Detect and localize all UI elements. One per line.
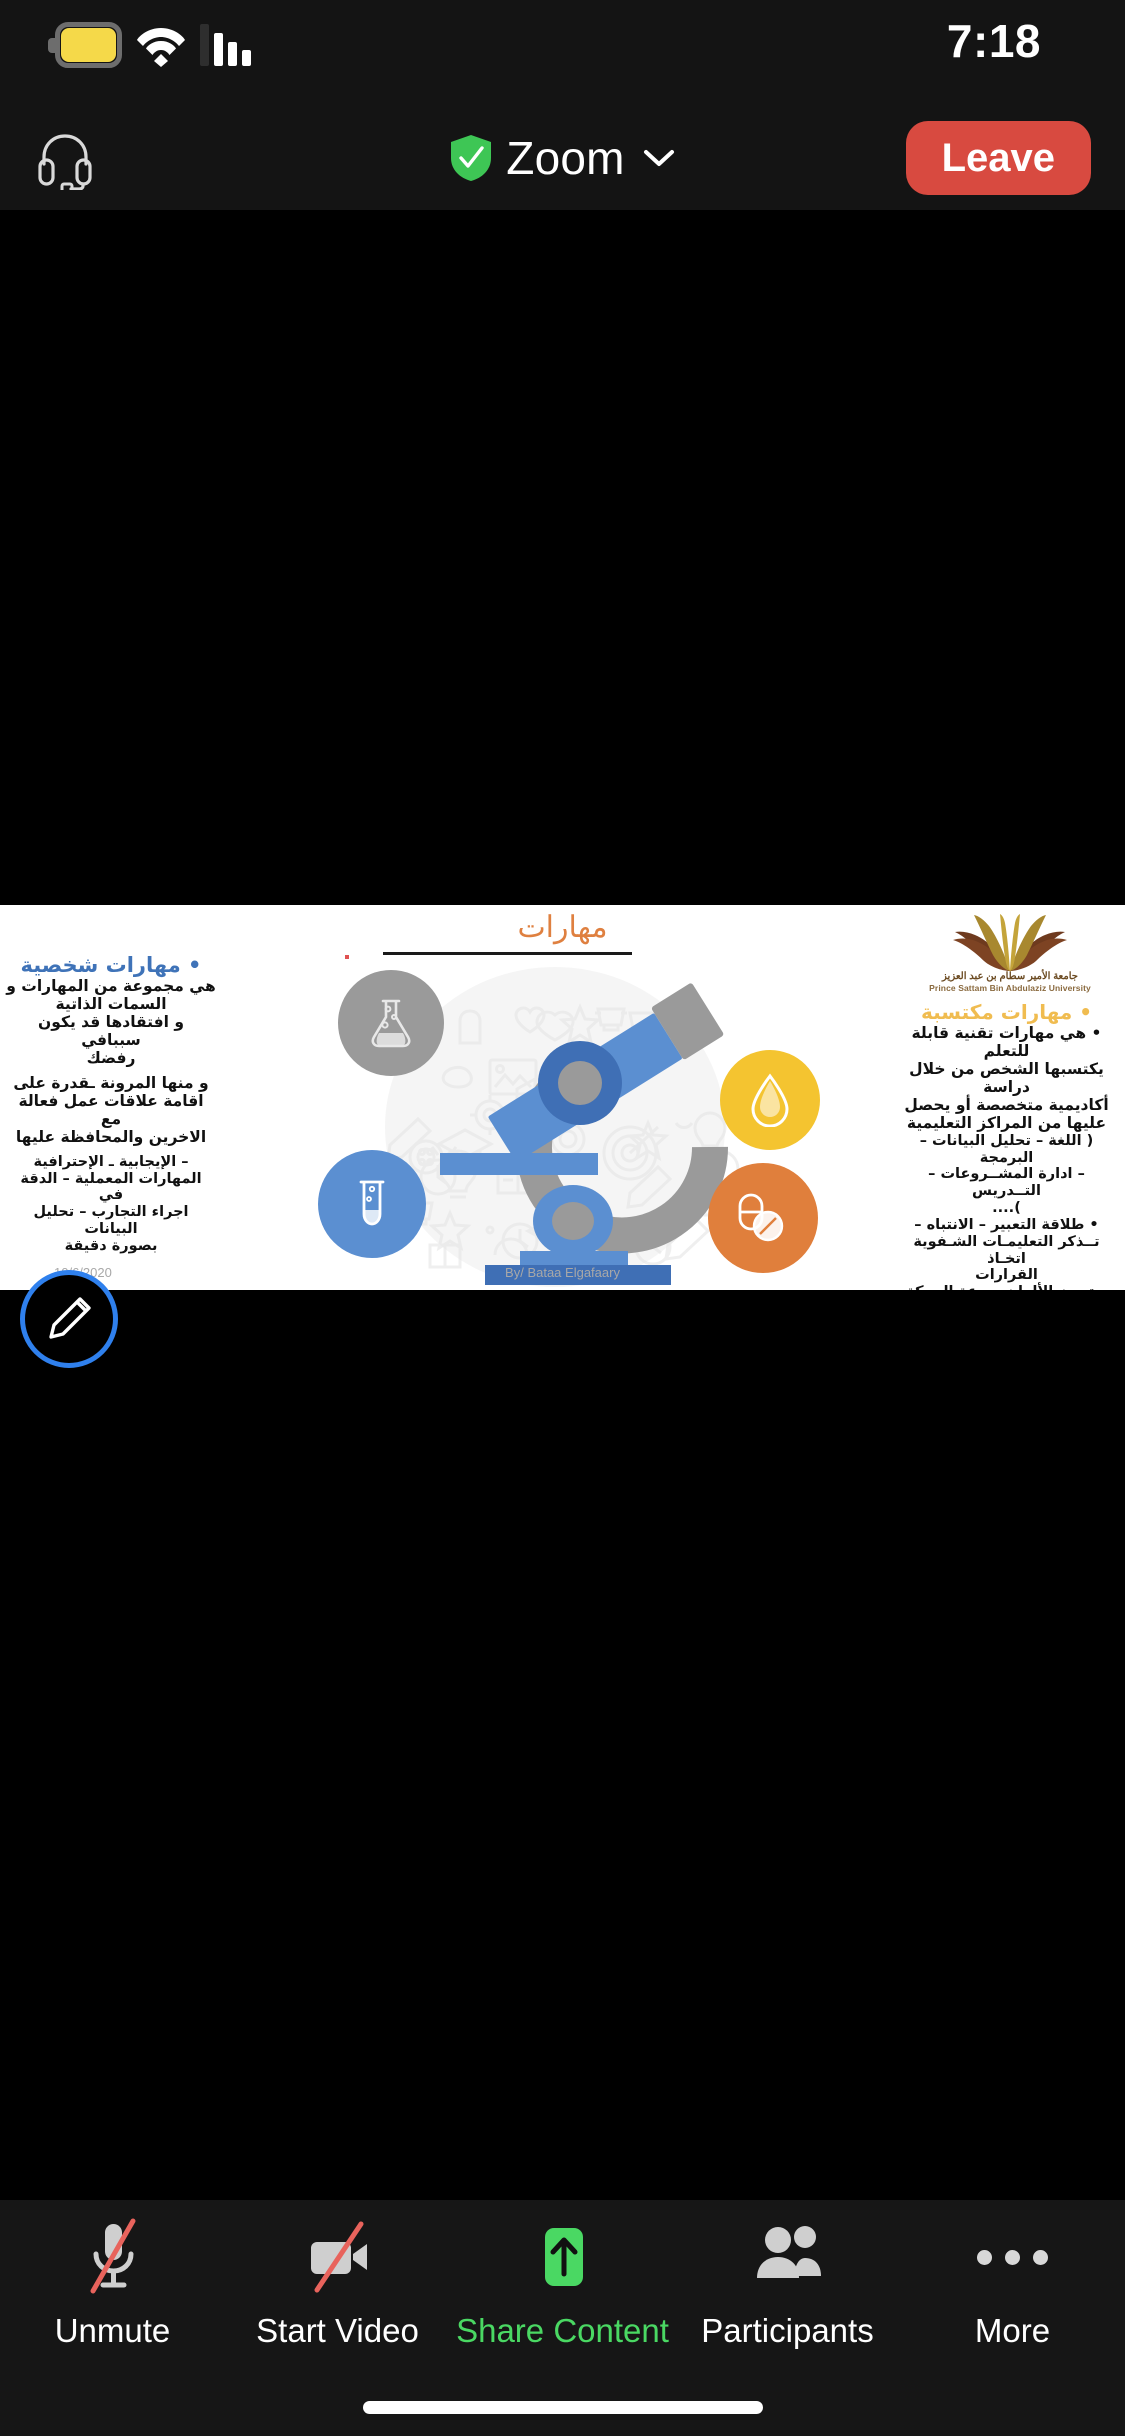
right-column-line: يكتسبها الشخص من خلال دراسة — [894, 1061, 1119, 1097]
status-bar: 7:18 — [0, 0, 1125, 105]
meeting-top-bar: Zoom Leave — [0, 105, 1125, 210]
shared-slide[interactable]: مهارات جامعة الأمير سطام بن عبد العزيز P… — [0, 905, 1125, 1290]
chevron-down-icon — [643, 148, 675, 168]
left-column-line: رفضك — [6, 1050, 216, 1068]
participants-icon — [748, 2216, 828, 2298]
more-dots-icon — [977, 2216, 1048, 2298]
water-drop-icon — [720, 1050, 820, 1150]
participants-label: Participants — [701, 2312, 873, 2350]
left-column-line: بصورة دقيقة — [6, 1238, 216, 1255]
right-column-line: • طلاقة التعبير – الانتباه – — [894, 1217, 1119, 1234]
right-column-line: تــذكر التعليمـات الشـفوية اتخـاذ — [894, 1234, 1119, 1268]
left-column-line: و منها المرونة ـقدرة على — [6, 1075, 216, 1093]
share-content-button[interactable]: Share Content — [450, 2216, 675, 2350]
status-bar-clock: 7:18 — [947, 14, 1041, 68]
slide-left-column: • مهارات شخصية هي مجموعة من المهارات و ا… — [6, 953, 216, 1255]
annotate-button[interactable] — [20, 1270, 118, 1368]
start-video-label: Start Video — [256, 2312, 419, 2350]
left-column-heading: • مهارات شخصية — [6, 953, 216, 977]
shared-screen-stage[interactable]: مهارات جامعة الأمير سطام بن عبد العزيز P… — [0, 210, 1125, 2370]
wifi-icon — [136, 23, 186, 67]
unmute-button[interactable]: Unmute — [0, 2216, 225, 2350]
home-indicator — [363, 2401, 763, 2414]
more-button[interactable]: More — [900, 2216, 1125, 2350]
mic-muted-icon — [79, 2216, 147, 2298]
pills-icon — [708, 1163, 818, 1273]
start-video-button[interactable]: Start Video — [225, 2216, 450, 2350]
share-content-label: Share Content — [456, 2312, 669, 2350]
logo-arabic-text: جامعة الأمير سطام بن عبد العزيز — [915, 971, 1105, 983]
left-column-line: اجراء التجارب – تحليل البيانات — [6, 1204, 216, 1238]
cellular-signal-icon — [200, 24, 251, 66]
battery-icon — [48, 22, 122, 68]
share-arrow-icon — [525, 2216, 601, 2298]
left-column-line: و افتقادها قد يكون سببافي — [6, 1014, 216, 1050]
left-column-line: السمات الذاتية — [6, 996, 216, 1014]
participants-button[interactable]: Participants — [675, 2216, 900, 2350]
slide-author: By/ Bataa Elgafaary — [0, 1265, 1125, 1280]
right-column-line: – ادارة المشــروعات – التــدريس — [894, 1166, 1119, 1200]
left-column-line: اقامة علاقات عمل فعالة مع — [6, 1093, 216, 1129]
video-muted-icon — [299, 2216, 377, 2298]
more-label: More — [975, 2312, 1050, 2350]
right-column-line: أكاديمية متخصصة أو يحصل — [894, 1097, 1119, 1115]
right-column-line: عليها من المراكز التعليمية — [894, 1115, 1119, 1133]
unmute-label: Unmute — [55, 2312, 171, 2350]
right-column-line: • هي مهارات تقنية قابلة للتعلم — [894, 1025, 1119, 1061]
meeting-controls-toolbar: Unmute Start Video Share Content — [0, 2200, 1125, 2436]
meeting-title: Zoom — [506, 131, 624, 185]
test-tube-icon — [318, 1150, 426, 1258]
university-logo: جامعة الأمير سطام بن عبد العزيز Prince S… — [915, 913, 1105, 1007]
right-column-line: – تمييز الألوان سرعة الحركة — [894, 1284, 1119, 1290]
left-column-line: المهارات المعملية – الدقة في — [6, 1171, 216, 1205]
pencil-icon — [42, 1292, 96, 1346]
flask-icon — [338, 970, 444, 1076]
microscope-illustration — [330, 955, 810, 1285]
left-column-line: هي مجموعة من المهارات و — [6, 978, 216, 996]
logo-english-text: Prince Sattam Bin Abdulaziz University — [915, 983, 1105, 993]
open-book-logo-icon — [935, 913, 1085, 973]
right-column-line: ).... — [894, 1200, 1119, 1217]
left-column-line: – الإيجابية ـ الإحترافية — [6, 1154, 216, 1171]
right-column-heading: • مهارات مكتسبة — [894, 1001, 1119, 1024]
left-column-line: الاخرين والمحافظة عليها — [6, 1129, 216, 1147]
status-bar-indicators — [48, 22, 251, 68]
shield-check-icon — [450, 134, 492, 182]
right-column-line: ( اللغة – تحليل البيانات – البرمجة — [894, 1133, 1119, 1167]
slide-right-column: • مهارات مكتسبة • هي مهارات تقنية قابلة … — [894, 1001, 1119, 1290]
leave-button[interactable]: Leave — [906, 121, 1091, 195]
